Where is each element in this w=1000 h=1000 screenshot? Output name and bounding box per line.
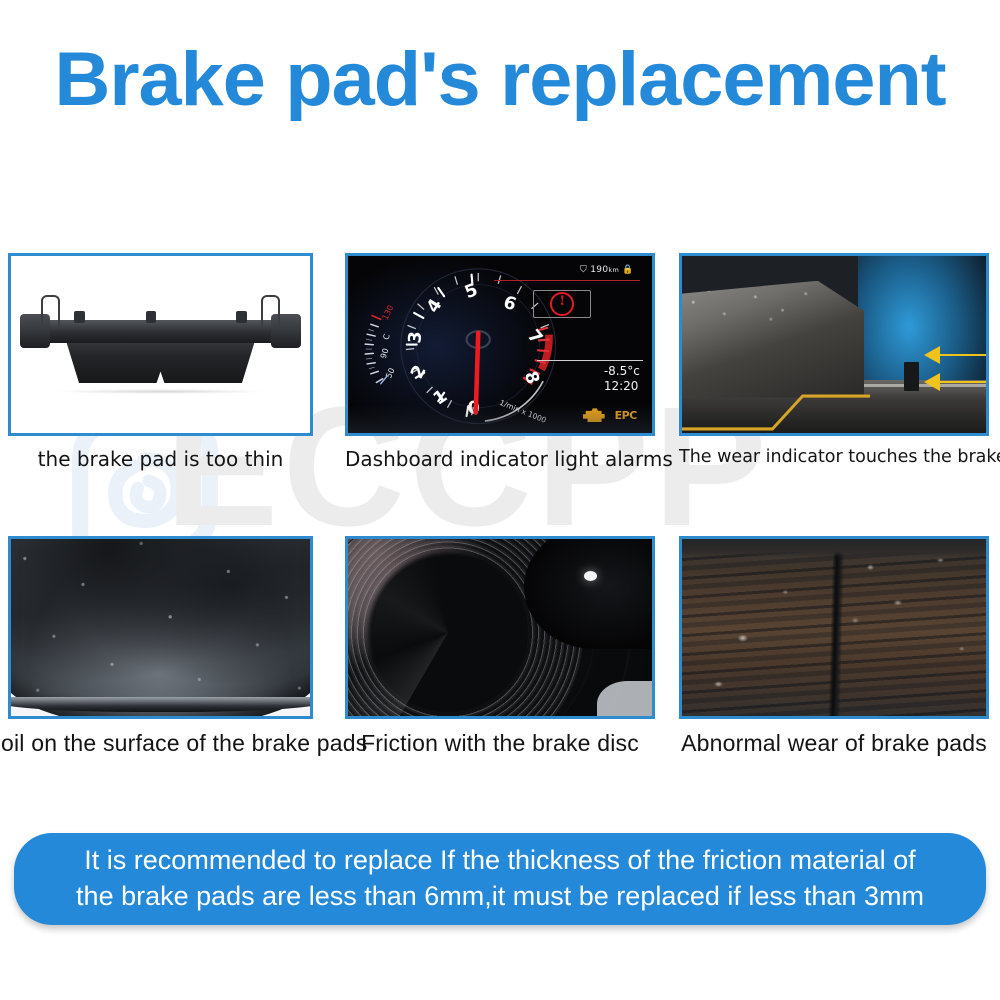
panel-wear-indicator: The wear indicator touches the brake rot… [679, 253, 989, 467]
door-ajar-icon: ⛉ [580, 265, 587, 275]
abnormally-worn-brake-pad-photo [682, 539, 986, 716]
recommendation-banner: It is recommended to replace If the thic… [14, 833, 986, 925]
recommendation-line-1: It is recommended to replace If the thic… [76, 843, 924, 879]
svg-text:6: 6 [501, 293, 519, 316]
wear-indicator-closeup-photo [682, 256, 986, 433]
panel-friction-disc: Friction with the brake disc [345, 536, 655, 756]
recommendation-text: It is recommended to replace If the thic… [58, 843, 942, 914]
image-frame [345, 536, 655, 719]
panel-caption: The wear indicator touches the brake rot… [679, 448, 989, 467]
oily-brake-pad-surface-photo [11, 539, 310, 716]
panel-abnormal-wear: Abnormal wear of brake pads [679, 536, 989, 756]
image-frame [679, 536, 989, 719]
range-value: 190 [590, 265, 608, 275]
svg-text:4: 4 [424, 296, 447, 317]
panel-oil-on-pads: oil on the surface of the brake pads [8, 536, 313, 756]
svg-text:8: 8 [520, 369, 543, 387]
lock-icon: 🔒 [622, 265, 634, 275]
temperature-clock-readout: -8.5°c 12:20 [604, 364, 640, 394]
car-dashboard-tachometer-photo: 130 C 90 50 [348, 256, 652, 433]
recommendation-line-2: the brake pads are less than 6mm,it must… [76, 879, 924, 915]
svg-text:3: 3 [406, 331, 427, 345]
image-frame [8, 253, 313, 436]
panel-caption: the brake pad is too thin [8, 448, 313, 470]
brake-pad-side-view-photo [11, 256, 310, 433]
image-frame [679, 253, 989, 436]
grooved-brake-rotor-photo [348, 539, 652, 716]
svg-text:2: 2 [408, 362, 431, 382]
outside-temperature: -8.5°c [604, 364, 640, 379]
panel-caption: Abnormal wear of brake pads [679, 731, 989, 756]
panel-dashboard-alarm: 130 C 90 50 [345, 253, 655, 470]
panel-caption: oil on the surface of the brake pads [1, 731, 306, 756]
range-unit: km [608, 266, 619, 274]
page-title: Brake pad's replacement [0, 42, 1000, 118]
wear-indicator-highlight-line [682, 355, 870, 433]
clock-value: 12:20 [604, 379, 640, 394]
brake-warning-icon: ! [533, 290, 591, 318]
image-frame: 130 C 90 50 [345, 253, 655, 436]
panel-brake-pad-thin: the brake pad is too thin [8, 253, 313, 470]
range-readout: ⛉ 190km 🔒 [580, 265, 634, 275]
svg-text:5: 5 [462, 280, 481, 303]
panel-caption: Friction with the brake disc [345, 731, 655, 756]
image-frame [8, 536, 313, 719]
panel-caption: Dashboard indicator light alarms [345, 448, 655, 470]
